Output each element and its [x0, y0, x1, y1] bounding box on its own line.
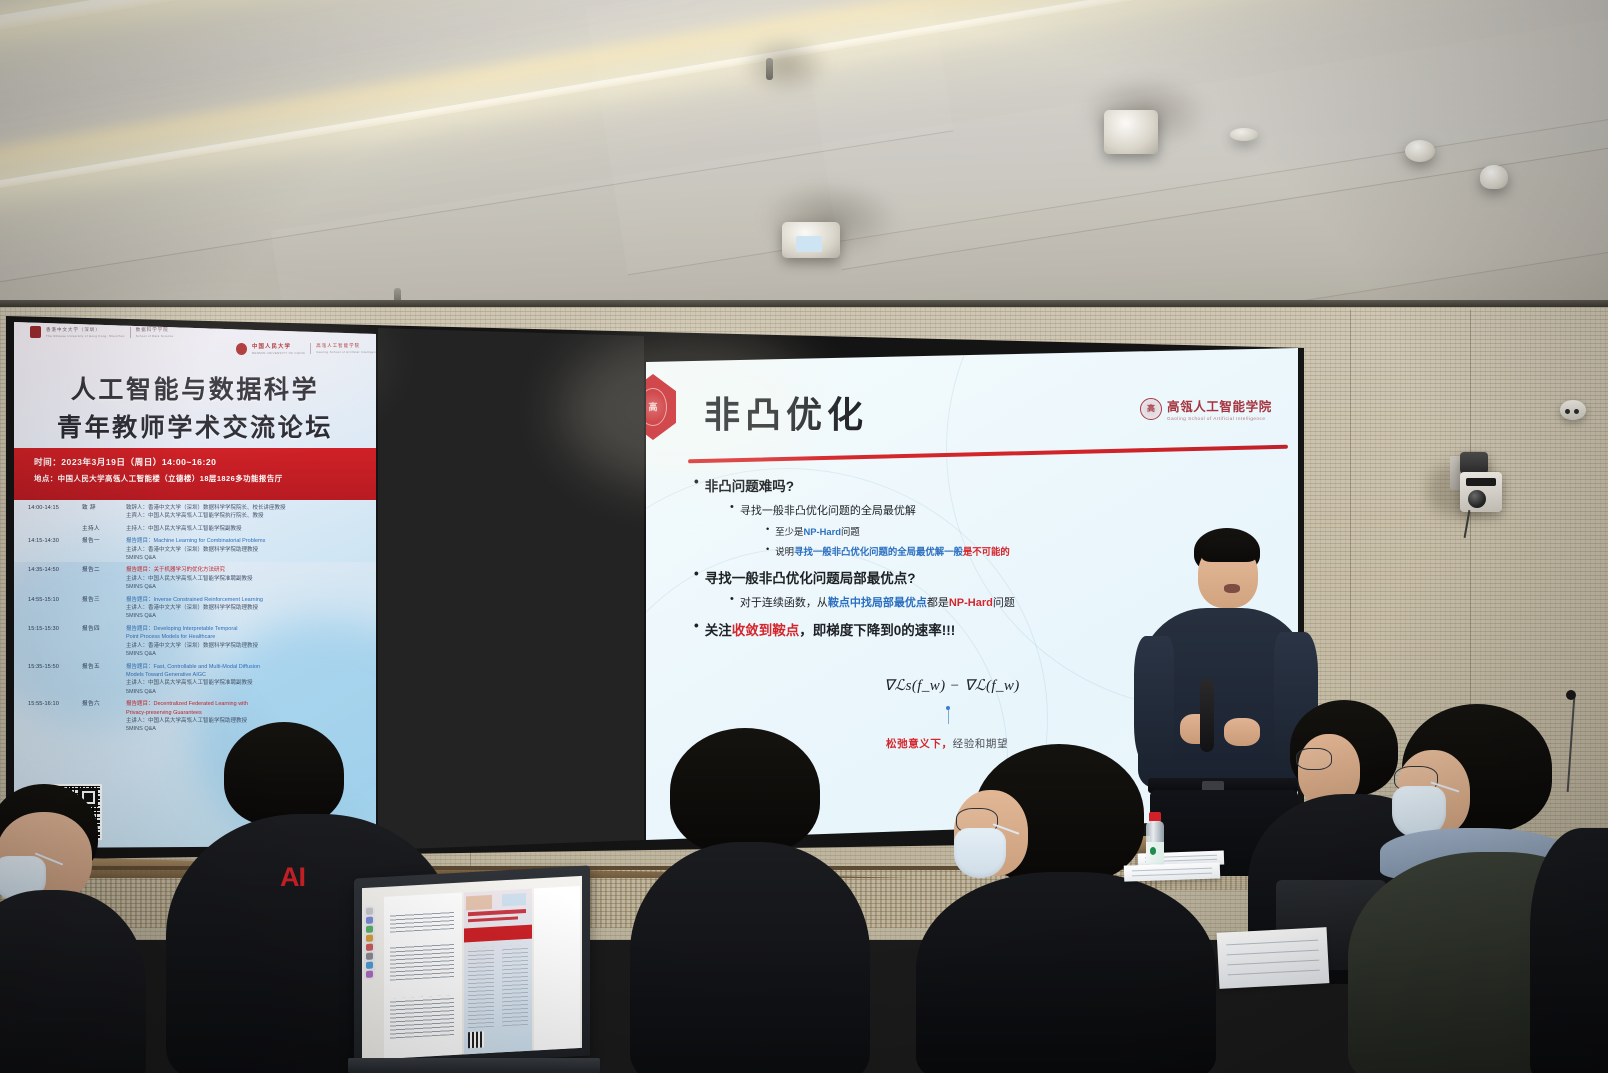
schedule-line: 主宾人：中国人民大学高瓴人工智能学院执行院长、教授 [126, 512, 376, 520]
schedule-line: Privacy-preserving Guarantees [126, 709, 376, 717]
schedule-line: 报告题目：Fast, Controllable and Multi-Modal … [126, 663, 376, 671]
slide-org-en: Gaoling School of Artificial Intelligenc… [1167, 416, 1272, 421]
schedule-line: 5MINS Q&A [126, 688, 376, 696]
gsai-logo-en: Gaoling School of Artificial Intelligenc… [316, 350, 376, 354]
bullet-segment: 是不可能的 [963, 546, 1010, 557]
audience-member [1530, 828, 1608, 1073]
bullet-segment: ，即梯度下降到0的速率!!! [799, 623, 955, 638]
schedule-line: 5MINS Q&A [126, 612, 376, 620]
gsai-logo-cn: 高瓴人工智能学院 [316, 343, 376, 349]
schedule-row: 主持人主持人：中国人民大学高瓴人工智能学院副教授 [28, 525, 376, 533]
sprinkler-head [766, 58, 773, 80]
bullet-text: 关注收敛到鞍点，即梯度下降到0的速率!!! [705, 619, 956, 639]
schedule-role: 主持人 [82, 525, 126, 533]
dome-camera [1560, 400, 1586, 420]
schedule-line: 致辞人：香港中文大学（深圳）数据科学学院院长、校长讲座教授 [126, 504, 376, 512]
lecture-hall-photo: 香港中文大学（深圳） The Chinese University of Hon… [0, 0, 1608, 1073]
bullet-dot-icon: • [766, 524, 769, 533]
schedule-role: 报告一 [82, 537, 126, 545]
bullet-dot-icon: • [694, 567, 699, 581]
paper-handout [1217, 927, 1330, 989]
poster-title-line2: 青年教师学术交流论坛 [14, 408, 376, 444]
schedule-detail: 报告题目：Developing Interpretable TemporalPo… [126, 625, 376, 659]
cuhksz-logo-icon [30, 326, 41, 338]
smoke-detector [1480, 165, 1508, 189]
schedule-line: 报告题目：Machine Learning for Combinatorial … [126, 537, 376, 545]
bullet-text: 说明寻找一般非凸优化问题的全局最优解一般是不可能的 [775, 544, 1009, 558]
audience-member [0, 784, 126, 1073]
schedule-row: 14:00-14:15致 辞致辞人：香港中文大学（深圳）数据科学学院院长、校长讲… [28, 504, 376, 521]
audience-member [930, 744, 1200, 1073]
schedule-line: Point Process Models for Healthcare [126, 633, 376, 641]
schedule-line: 报告题目：Developing Interpretable Temporal [126, 625, 376, 633]
schedule-line: 报告题目：关于机器学习的优化方法研究 [126, 566, 376, 574]
schedule-role: 报告三 [82, 596, 126, 604]
schedule-line: 5MINS Q&A [126, 583, 376, 591]
bullet-dot-icon: • [694, 619, 699, 633]
paper-handout [1124, 862, 1221, 881]
bullet-segment: 收敛到鞍点 [732, 623, 800, 638]
bullet-segment: 说明 [775, 546, 794, 557]
gsai-seal-icon: 高 [1140, 398, 1162, 420]
ptz-camera [1440, 440, 1530, 530]
bullet-text: 寻找一般非凸优化问题局部最优点? [705, 567, 916, 587]
poster-info-band: 时间：2023年3月19日（周日）14:00~16:20 地点：中国人民大学高瓴… [14, 448, 376, 500]
bullet-segment: 鞍点中找局部最优点 [828, 597, 927, 609]
schedule-time: 14:00-14:15 [28, 504, 82, 512]
schedule-detail: 致辞人：香港中文大学（深圳）数据科学学院院长、校长讲座教授主宾人：中国人民大学高… [126, 504, 376, 521]
handheld-microphone [1200, 678, 1214, 752]
jacket-ai-logo: AI [280, 862, 334, 892]
schedule-detail: 报告题目：关于机器学习的优化方法研究主讲人：中国人民大学高瓴人工智能学院准聘副教… [126, 566, 376, 591]
schedule-time: 14:35-14:50 [28, 566, 82, 574]
schedule-detail: 报告题目：Inverse Constrained Reinforcement L… [126, 596, 376, 621]
slide-org-cn: 高瓴人工智能学院 [1167, 396, 1272, 415]
ceiling [0, 0, 1608, 330]
schedule-line: 主讲人：香港中文大学（深圳）数据科学学院助理教授 [126, 604, 376, 612]
schedule-time: 15:35-15:50 [28, 663, 82, 671]
poster-logo-ruc: 中国人民大学 RENMIN UNIVERSITY OF CHINA 高瓴人工智能… [236, 342, 376, 355]
schedule-row: 15:35-15:50报告五报告题目：Fast, Controllable an… [28, 663, 376, 697]
bullet-segment: 寻找一般非凸优化问题的全局最优解 [740, 505, 916, 517]
bullet-text: 寻找一般非凸优化问题的全局最优解 [740, 502, 916, 518]
camera-ir-panel [1466, 478, 1496, 486]
schedule-line: 主持人：中国人民大学高瓴人工智能学院副教授 [126, 525, 376, 533]
bullet-segment: 至少是 [775, 526, 803, 537]
sds-logo-cn: 数据科学学院 [136, 327, 174, 333]
audience-torso [630, 842, 870, 1073]
camera-lens-icon [1468, 490, 1486, 508]
bullet-segment: NP-Hard [949, 597, 993, 609]
poster-title-line1: 人工智能与数据科学 [14, 370, 376, 406]
schedule-line: 主讲人：香港中文大学（深圳）数据科学学院助理教授 [126, 546, 376, 554]
bullet-dot-icon: • [730, 594, 734, 605]
ruc-logo-cn: 中国人民大学 [252, 342, 305, 350]
schedule-role: 报告六 [82, 700, 126, 708]
schedule-row: 14:35-14:50报告二报告题目：关于机器学习的优化方法研究主讲人：中国人民… [28, 566, 376, 591]
schedule-time: 14:15-14:30 [28, 537, 82, 545]
sds-logo-en: School of Data Science [136, 334, 174, 338]
slide-bullet: •寻找一般非凸优化问题的全局最优解 [730, 502, 1284, 518]
ceiling-speaker [1405, 140, 1435, 162]
slide-bullet: •非凸问题难吗? [694, 475, 1284, 495]
laptop[interactable] [354, 872, 590, 1073]
schedule-line: 主讲人：中国人民大学高瓴人工智能学院准聘副教授 [126, 679, 376, 687]
schedule-time: 15:55-16:10 [28, 700, 82, 708]
schedule-line: 报告题目：Inverse Constrained Reinforcement L… [126, 596, 376, 604]
ruc-logo-en: RENMIN UNIVERSITY OF CHINA [252, 351, 305, 355]
bullet-text: 非凸问题难吗? [705, 475, 794, 495]
slide-org-logo: 高 高瓴人工智能学院 Gaoling School of Artificial … [1140, 396, 1272, 421]
audience-member [636, 728, 866, 1073]
bullet-segment: 关注 [705, 623, 732, 638]
slide-title: 非凸优化 [704, 386, 868, 438]
bullet-segment: 寻找一般非凸优化问题的全局最优解一般 [794, 546, 963, 557]
smoke-detector [1104, 110, 1158, 154]
schedule-row: 14:15-14:30报告一报告题目：Machine Learning for … [28, 537, 376, 562]
bullet-segment: NP-Hard [803, 526, 841, 537]
badge-seal-icon: 高 [646, 388, 667, 427]
schedule-role: 致 辞 [82, 504, 126, 512]
schedule-row: 15:15-15:30报告四报告题目：Developing Interpreta… [28, 625, 376, 659]
poster-time: 时间：2023年3月19日（周日）14:00~16:20 [14, 454, 376, 471]
bullet-segment: 寻找一般非凸优化问题局部最优点? [705, 571, 916, 586]
cuhksz-logo-en: The Chinese University of Hong Kong, She… [46, 334, 125, 338]
laptop-screen[interactable] [362, 876, 582, 1060]
bullet-dot-icon: • [730, 502, 734, 513]
schedule-time: 15:15-15:30 [28, 625, 82, 633]
schedule-detail: 报告题目：Fast, Controllable and Multi-Modal … [126, 663, 376, 697]
poster-place: 地点：中国人民大学高瓴人工智能楼（立德楼）18层1826多功能报告厅 [14, 471, 376, 486]
schedule-role: 报告二 [82, 566, 126, 574]
slide-corner-badge: 高 [646, 374, 676, 440]
bullet-segment: 问题 [993, 597, 1015, 609]
face-mask [954, 828, 1006, 878]
schedule-detail: 主持人：中国人民大学高瓴人工智能学院副教授 [126, 525, 376, 533]
poster-schedule: 14:00-14:15致 辞致辞人：香港中文大学（深圳）数据科学学院院长、校长讲… [14, 504, 376, 738]
bullet-dot-icon: • [694, 475, 699, 489]
schedule-line: 5MINS Q&A [126, 554, 376, 562]
schedule-line: 主讲人：香港中文大学（深圳）数据科学学院助理教授 [126, 642, 376, 650]
cuhksz-logo-cn: 香港中文大学（深圳） [46, 327, 125, 333]
schedule-line: 5MINS Q&A [126, 650, 376, 658]
schedule-line: 主讲人：中国人民大学高瓴人工智能学院准聘副教授 [126, 575, 376, 583]
schedule-time: 14:55-15:10 [28, 596, 82, 604]
schedule-row: 14:55-15:10报告三报告题目：Inverse Constrained R… [28, 596, 376, 621]
schedule-detail: 报告题目：Machine Learning for Combinatorial … [126, 537, 376, 562]
schedule-role: 报告四 [82, 625, 126, 633]
schedule-role: 报告五 [82, 663, 126, 671]
microphone-head-icon [1566, 690, 1576, 700]
audience-torso [0, 890, 146, 1073]
bullet-segment: 都是 [927, 597, 949, 609]
schedule-line: 报告题目：Decentralized Federated Learning wi… [126, 700, 376, 708]
bullet-text: 至少是NP-Hard问题 [775, 524, 859, 538]
eyeglasses [1296, 748, 1332, 770]
bullet-text: 对于连续函数，从鞍点中找局部最优点都是NP-Hard问题 [740, 594, 1015, 610]
ruc-logo-icon [236, 343, 247, 355]
poster-logo-cuhksz: 香港中文大学（深圳） The Chinese University of Hon… [30, 326, 174, 338]
schedule-line: Models Toward Generative AIGC [126, 671, 376, 679]
audience-torso [916, 872, 1216, 1073]
slide-formula: ∇ℒs(f_w) − ∇ℒ(f_w) [884, 676, 1020, 695]
ceiling-dome [1230, 128, 1258, 141]
bullet-dot-icon: • [766, 544, 769, 553]
bullet-segment: 问题 [841, 526, 860, 537]
bullet-segment: 非凸问题难吗? [705, 479, 794, 494]
jacket-logo-text: AI [280, 862, 305, 892]
bullet-segment: 对于连续函数，从 [740, 597, 828, 609]
